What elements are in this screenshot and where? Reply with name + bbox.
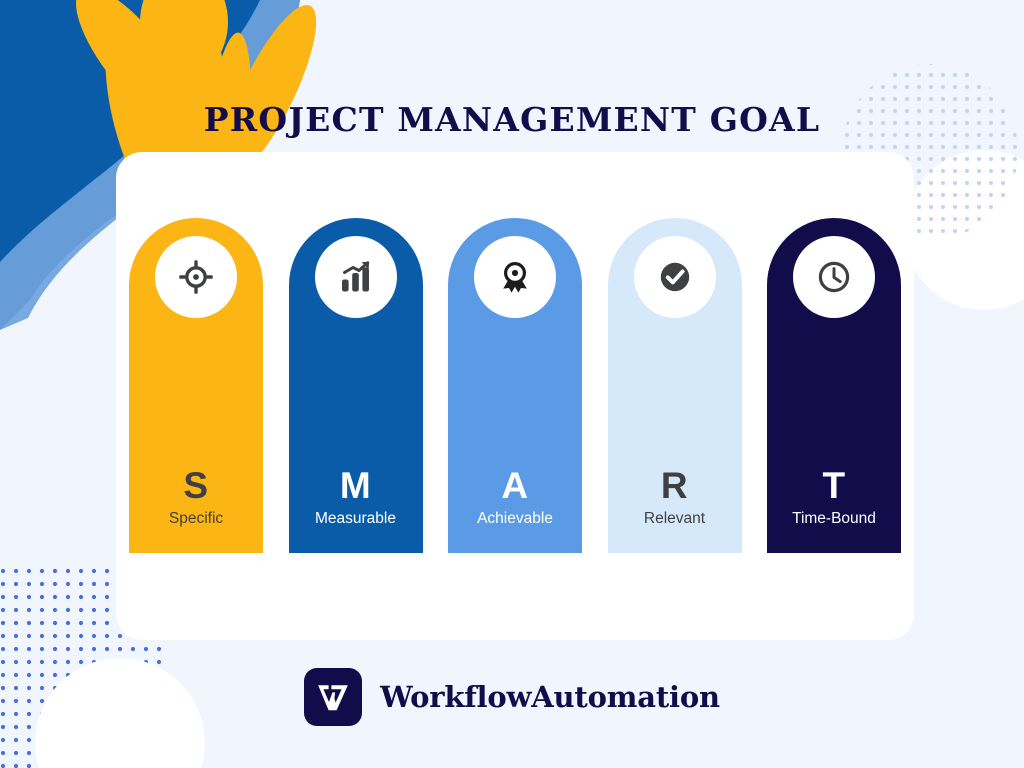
page-title: PROJECT MANAGEMENT GOAL [0, 100, 1024, 139]
card-label-specific: Specific [129, 510, 263, 529]
smart-goal-card-list: S Specific M Measurable [129, 218, 901, 553]
clock-icon [816, 259, 852, 295]
target-crosshair-icon [178, 259, 214, 295]
bar-chart-growth-icon [338, 259, 374, 295]
icon-badge-achievable [474, 236, 556, 318]
card-letter-time-bound: T [767, 467, 901, 506]
w-monogram-icon [315, 680, 351, 714]
card-label-relevant: Relevant [608, 510, 742, 529]
brand-footer: WorkflowAutomation [0, 668, 1024, 726]
infographic-canvas: PROJECT MANAGEMENT GOAL S Specific [0, 0, 1024, 768]
icon-badge-relevant [634, 236, 716, 318]
card-letter-measurable: M [289, 467, 423, 506]
card-text-time-bound: T Time-Bound [767, 467, 901, 529]
card-text-relevant: R Relevant [608, 467, 742, 529]
card-label-time-bound: Time-Bound [767, 510, 901, 529]
card-letter-specific: S [129, 467, 263, 506]
smart-card-time-bound[interactable]: T Time-Bound [767, 218, 901, 553]
card-letter-achievable: A [448, 467, 582, 506]
card-text-measurable: M Measurable [289, 467, 423, 529]
logo-badge [304, 668, 362, 726]
award-medal-icon [497, 259, 533, 295]
white-circle-accent-top-right [904, 150, 1024, 310]
smart-card-measurable[interactable]: M Measurable [289, 218, 423, 553]
card-label-measurable: Measurable [289, 510, 423, 529]
smart-card-relevant[interactable]: R Relevant [608, 218, 742, 553]
card-text-achievable: A Achievable [448, 467, 582, 529]
check-circle-icon [657, 259, 693, 295]
card-text-specific: S Specific [129, 467, 263, 529]
card-label-achievable: Achievable [448, 510, 582, 529]
icon-badge-time-bound [793, 236, 875, 318]
brand-name: WorkflowAutomation [380, 680, 720, 714]
card-letter-relevant: R [608, 467, 742, 506]
smart-card-specific[interactable]: S Specific [129, 218, 263, 553]
icon-badge-specific [155, 236, 237, 318]
smart-card-achievable[interactable]: A Achievable [448, 218, 582, 553]
icon-badge-measurable [315, 236, 397, 318]
